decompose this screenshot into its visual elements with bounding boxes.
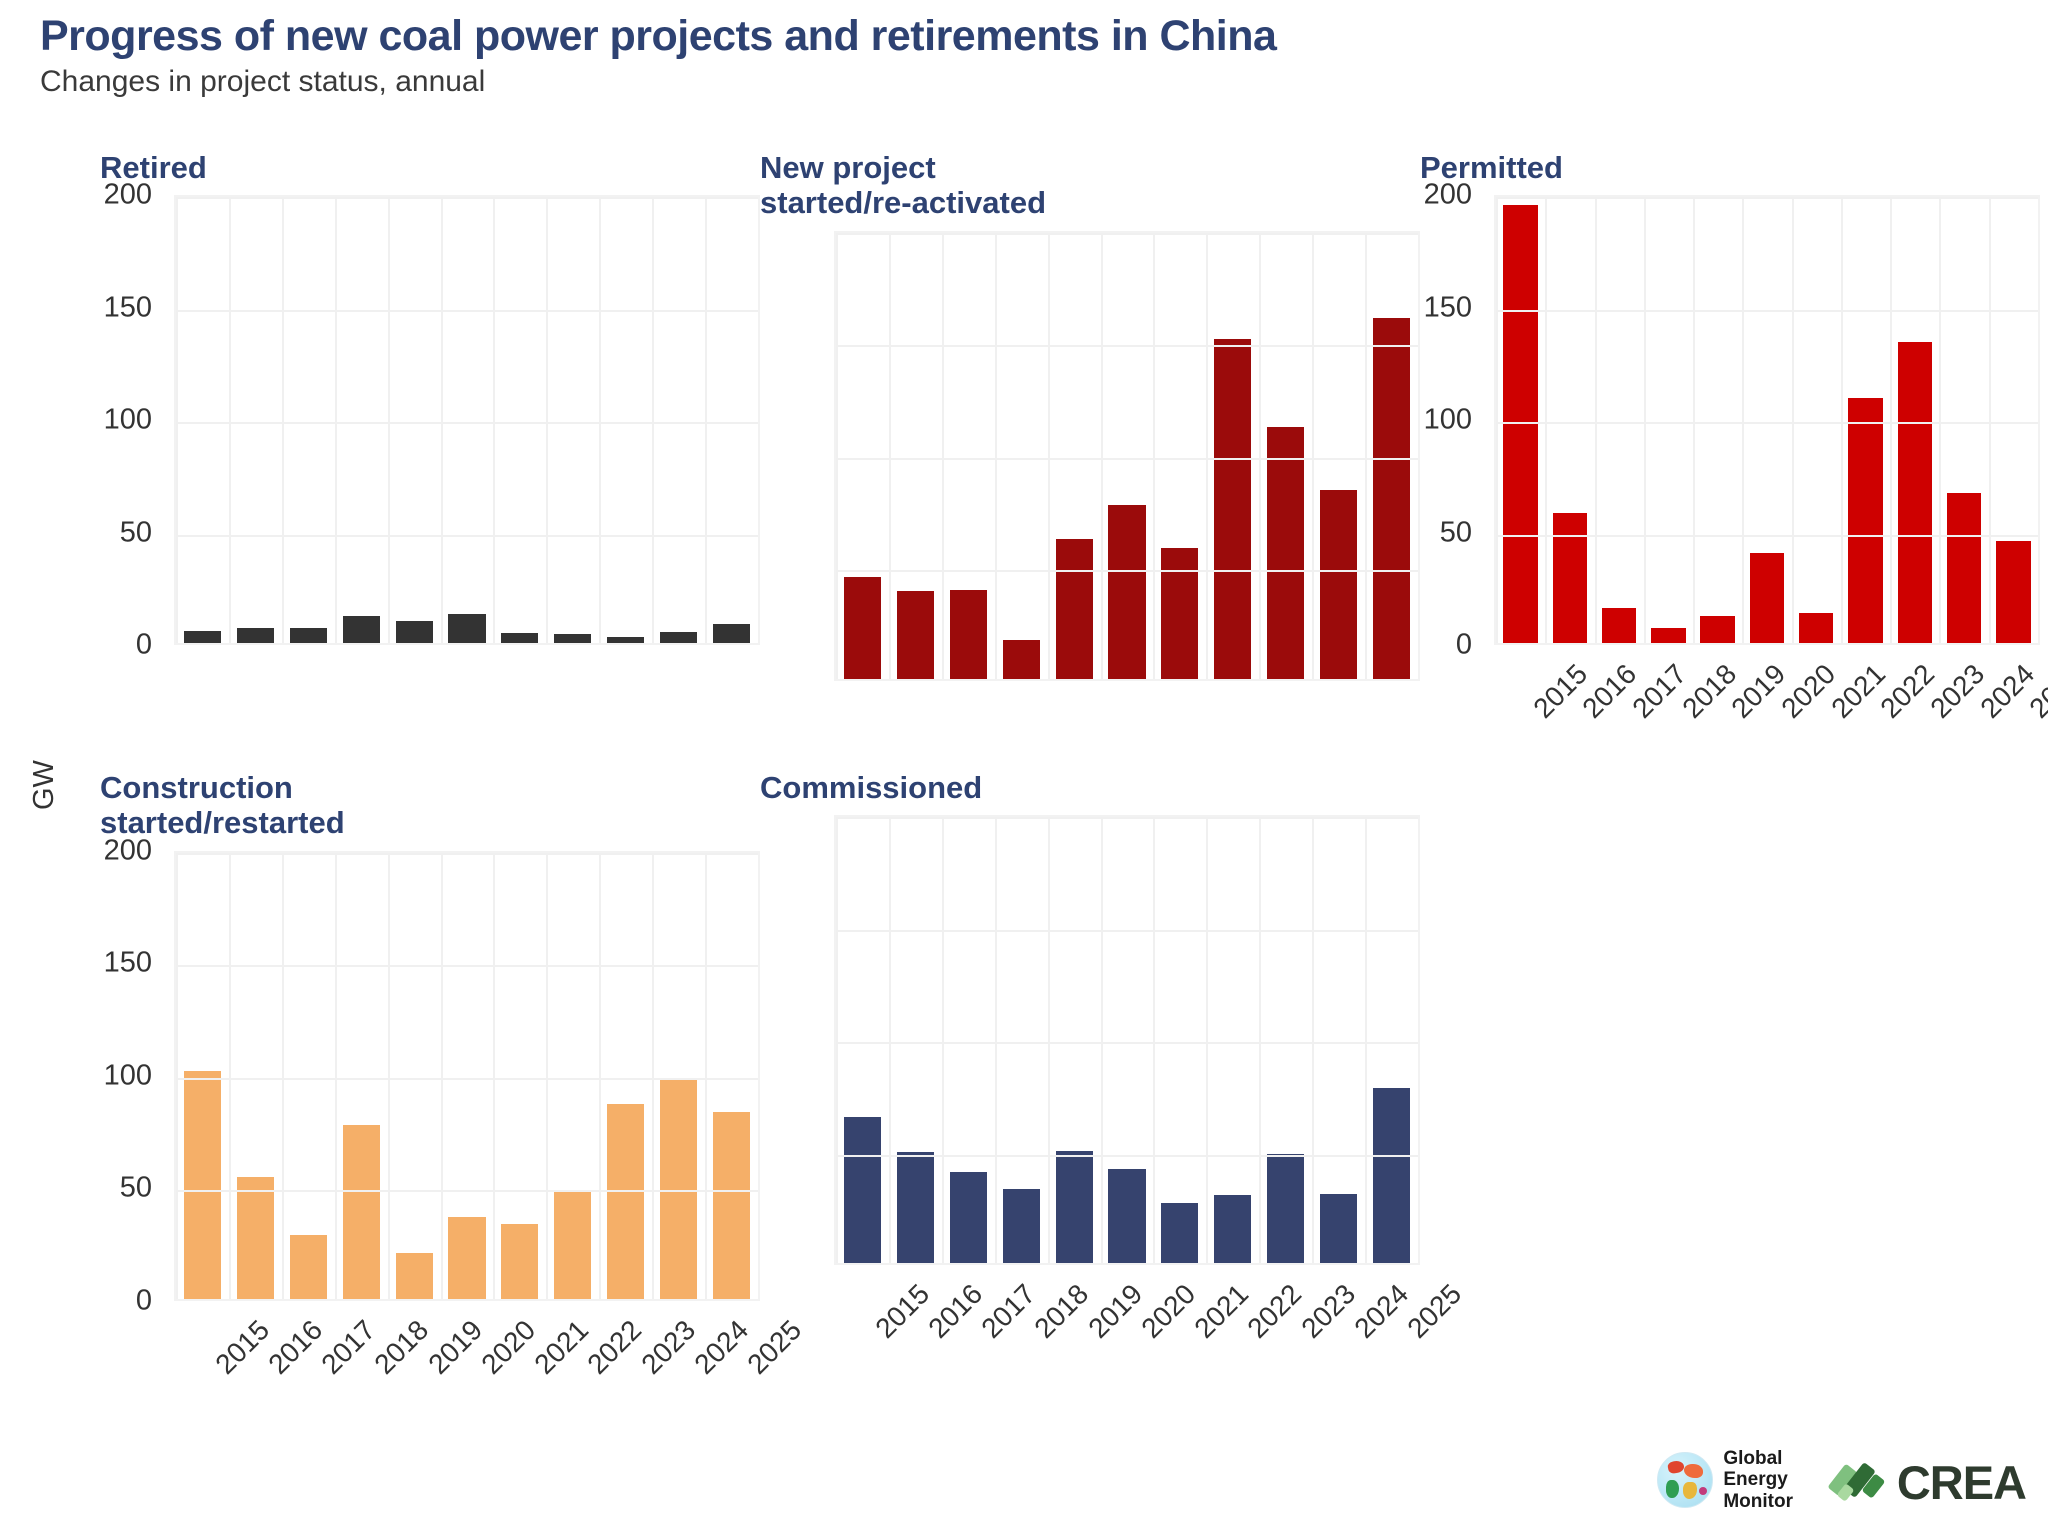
bar[interactable] <box>396 1253 433 1299</box>
gridline-vertical <box>995 817 997 1263</box>
bar[interactable] <box>1056 1151 1093 1264</box>
bar[interactable] <box>1898 342 1932 644</box>
bar-slot <box>493 197 546 643</box>
globe-icon <box>1657 1452 1713 1508</box>
gridline-vertical <box>1365 233 1367 679</box>
gridline-vertical <box>1206 233 1208 679</box>
bar[interactable] <box>448 1217 485 1299</box>
bar[interactable] <box>343 616 380 643</box>
bar-slot <box>599 853 652 1299</box>
gem-wordmark: Global Energy Monitor <box>1723 1448 1793 1512</box>
gridline-vertical <box>1742 197 1744 643</box>
bar-slot <box>1101 233 1154 679</box>
gridline-horizontal <box>1496 535 2038 537</box>
gridline-vertical <box>1595 197 1597 643</box>
bar[interactable] <box>554 1192 591 1299</box>
bar-slot <box>282 853 335 1299</box>
bar[interactable] <box>844 577 881 678</box>
bar-slot <box>1939 197 1988 643</box>
x-tick-slot: 2021 <box>494 1301 547 1421</box>
gridline-vertical <box>388 197 390 643</box>
x-tick-slot: 2020 <box>440 1301 493 1421</box>
x-axis-permitted: 2015201620172018201920202021202220232024… <box>1494 645 2040 765</box>
y-axis-retired: 050100150200 <box>100 195 162 645</box>
gridline-vertical <box>1153 233 1155 679</box>
bar-slot <box>388 197 441 643</box>
gridline-vertical <box>652 853 654 1299</box>
x-tick-slot: 2017 <box>1593 645 1643 765</box>
bar-slot <box>652 197 705 643</box>
bar[interactable] <box>501 1224 538 1298</box>
x-tick-slot: 2024 <box>1941 645 1991 765</box>
x-tick-slot: 2025 <box>1990 645 2040 765</box>
gridline-horizontal <box>176 1078 758 1080</box>
bar[interactable] <box>1320 490 1357 679</box>
x-tick-slot: 2017 <box>941 1265 994 1385</box>
bar[interactable] <box>844 1117 881 1263</box>
gridline-vertical <box>889 233 891 679</box>
crea-wordmark: CREA <box>1897 1455 2026 1510</box>
x-axis-commissioned: 2015201620172018201920202021202220232024… <box>834 1265 1420 1385</box>
bar[interactable] <box>1267 1154 1304 1263</box>
bar-slot <box>1153 233 1206 679</box>
gridline-horizontal <box>836 458 1418 460</box>
facet-title-permitted: Permitted <box>1420 150 2040 185</box>
bar-slot <box>282 197 335 643</box>
gridline-horizontal <box>176 197 758 199</box>
bar-slot <box>1890 197 1939 643</box>
bar[interactable] <box>343 1125 380 1298</box>
gridline-vertical <box>705 853 707 1299</box>
x-tick-slot: 2025 <box>1367 1265 1420 1385</box>
gridline-vertical <box>1048 233 1050 679</box>
facet-title-commissioned: Commissioned <box>760 770 1420 805</box>
bar[interactable] <box>950 1172 987 1263</box>
gridline-vertical <box>546 853 548 1299</box>
bar-slot <box>441 197 494 643</box>
bar-slot <box>599 197 652 643</box>
plot-panel-retired <box>174 195 760 645</box>
gridline-vertical <box>995 233 997 679</box>
bar[interactable] <box>1651 628 1685 644</box>
gridline-horizontal <box>1496 422 2038 424</box>
bar[interactable] <box>713 624 750 643</box>
gridline-vertical <box>652 197 654 643</box>
bar[interactable] <box>713 1112 750 1299</box>
x-tick-slot: 2018 <box>334 1301 387 1421</box>
bar[interactable] <box>660 1079 697 1298</box>
gridline-vertical <box>1101 817 1103 1263</box>
bar[interactable] <box>660 632 697 643</box>
y-tick-label: 200 <box>104 179 152 212</box>
footer: Global Energy Monitor CREA <box>0 1434 2048 1518</box>
bar-slot <box>889 817 942 1263</box>
bar[interactable] <box>237 1177 274 1299</box>
bar-slot <box>441 853 494 1299</box>
gridline-vertical <box>1418 817 1420 1263</box>
y-tick-label: 50 <box>120 516 152 549</box>
gridline-vertical <box>942 817 944 1263</box>
y-tick-label: 100 <box>104 404 152 437</box>
bar[interactable] <box>290 1235 327 1299</box>
gridline-vertical <box>335 853 337 1299</box>
x-tick-label: 2025 <box>2024 658 2048 725</box>
facet-title-retired: Retired <box>100 150 760 185</box>
bar-slot <box>1545 197 1594 643</box>
x-tick-slot: 2016 <box>887 1265 940 1385</box>
facet-title-new-project: New project started/re-activated <box>760 150 1420 221</box>
gridline-horizontal <box>176 535 758 537</box>
gem-line-1: Global <box>1723 1448 1793 1469</box>
x-tick-slot: 2022 <box>1841 645 1891 765</box>
bar-slot <box>1048 817 1101 1263</box>
bar-slot <box>836 817 889 1263</box>
x-tick-slot: 2017 <box>281 1301 334 1421</box>
bar[interactable] <box>1947 493 1981 644</box>
bar-slot <box>229 853 282 1299</box>
facet-new-project: New project started/re-activated <box>760 150 1420 681</box>
bar[interactable] <box>950 590 987 679</box>
bar-series-permitted <box>1496 197 2038 643</box>
gridline-vertical <box>836 817 838 1263</box>
bar[interactable] <box>1108 505 1145 678</box>
gridline-vertical <box>1206 817 1208 1263</box>
x-tick-slot: 2023 <box>1891 645 1941 765</box>
bar[interactable] <box>607 1104 644 1299</box>
x-tick-slot: 2016 <box>1544 645 1594 765</box>
x-tick-slot: 2023 <box>1260 1265 1313 1385</box>
y-tick-label: 50 <box>1440 516 1472 549</box>
gridline-horizontal <box>176 422 758 424</box>
gridline-vertical <box>1693 197 1695 643</box>
bar-slot <box>1644 197 1693 643</box>
bar-slot <box>546 853 599 1299</box>
bar[interactable] <box>897 591 934 679</box>
x-tick-slot: 2024 <box>653 1301 706 1421</box>
gridline-vertical <box>282 197 284 643</box>
x-tick-label: 2025 <box>742 1314 809 1381</box>
facet-grid: Retired 050100150200 New project started… <box>0 150 2048 1470</box>
x-tick-slot: 2023 <box>600 1301 653 1421</box>
y-tick-label: 0 <box>136 629 152 662</box>
gridline-vertical <box>2038 197 2040 643</box>
bar-slot <box>546 197 599 643</box>
crea-mark-icon <box>1835 1461 1889 1505</box>
gridline-vertical <box>1101 233 1103 679</box>
bar[interactable] <box>1003 640 1040 678</box>
bar-slot <box>229 197 282 643</box>
bar-slot <box>1153 817 1206 1263</box>
bar-slot <box>1693 197 1742 643</box>
gridline-vertical <box>836 233 838 679</box>
bar[interactable] <box>1320 1194 1357 1264</box>
gridline-horizontal <box>836 930 1418 932</box>
bar-slot <box>942 817 995 1263</box>
x-tick-slot: 2021 <box>1792 645 1842 765</box>
bar[interactable] <box>237 628 274 644</box>
facet-commissioned: Commissioned 201520162017201820192020202… <box>760 770 1420 1265</box>
gridline-vertical <box>1841 197 1843 643</box>
bar[interactable] <box>501 633 538 643</box>
bar-slot <box>176 853 229 1299</box>
y-axis-commissioned <box>760 815 822 1265</box>
bar-slot <box>335 853 388 1299</box>
gridline-horizontal <box>176 1190 758 1192</box>
bar[interactable] <box>290 628 327 644</box>
plot-panel-permitted <box>1494 195 2040 645</box>
bar-slot <box>995 233 1048 679</box>
page-title: Progress of new coal power projects and … <box>40 14 1940 59</box>
gridline-vertical <box>889 817 891 1263</box>
bar[interactable] <box>1161 548 1198 679</box>
bar[interactable] <box>1056 539 1093 679</box>
x-tick-slot: 2019 <box>387 1301 440 1421</box>
facet-permitted: Permitted 050100150200 20152016201720182… <box>1420 150 2040 645</box>
gridline-vertical <box>1048 817 1050 1263</box>
bar[interactable] <box>1003 1189 1040 1263</box>
bar-series-construction <box>176 853 758 1299</box>
bar-slot <box>995 817 1048 1263</box>
y-tick-label: 100 <box>104 1059 152 1092</box>
gem-line-2: Energy <box>1723 1469 1793 1490</box>
bar-series-commissioned <box>836 817 1418 1263</box>
y-tick-label: 200 <box>104 834 152 867</box>
y-tick-label: 150 <box>104 947 152 980</box>
gridline-vertical <box>1259 817 1261 1263</box>
gridline-vertical <box>1153 817 1155 1263</box>
gridline-vertical <box>546 197 548 643</box>
bar-slot <box>652 853 705 1299</box>
gridline-vertical <box>493 853 495 1299</box>
x-tick-slot: 2015 <box>174 1301 227 1421</box>
x-tick-slot: 2020 <box>1100 1265 1153 1385</box>
y-tick-label: 200 <box>1424 179 1472 212</box>
bar-slot <box>1989 197 2038 643</box>
gridline-vertical <box>335 197 337 643</box>
bar-slot <box>1792 197 1841 643</box>
bar-slot <box>1259 233 1312 679</box>
bar[interactable] <box>1214 1195 1251 1264</box>
facet-construction: Construction started/restarted 050100150… <box>100 770 760 1301</box>
bar-slot <box>176 197 229 643</box>
y-tick-label: 0 <box>136 1284 152 1317</box>
gridline-vertical <box>1259 233 1261 679</box>
bar-slot <box>1742 197 1791 643</box>
gridline-vertical <box>705 197 707 643</box>
x-tick-slot: 2018 <box>1643 645 1693 765</box>
bar[interactable] <box>1750 553 1784 643</box>
x-axis-construction: 2015201620172018201920202021202220232024… <box>174 1301 760 1421</box>
bar-slot <box>836 233 889 679</box>
gridline-vertical <box>1989 197 1991 643</box>
bar[interactable] <box>1108 1169 1145 1264</box>
y-tick-label: 150 <box>1424 291 1472 324</box>
bar-slot <box>1365 817 1418 1263</box>
plot-panel-new-project <box>834 231 1420 681</box>
x-tick-slot: 2025 <box>707 1301 760 1421</box>
gridline-vertical <box>1545 197 1547 643</box>
gridline-horizontal <box>176 310 758 312</box>
gridline-horizontal <box>176 965 758 967</box>
plot-panel-commissioned <box>834 815 1420 1265</box>
bar[interactable] <box>1700 616 1734 643</box>
x-tick-slot: 2022 <box>547 1301 600 1421</box>
bar-slot <box>1206 817 1259 1263</box>
bar-slot <box>889 233 942 679</box>
gridline-vertical <box>229 197 231 643</box>
bar-slot <box>1496 197 1545 643</box>
bar-slot <box>1841 197 1890 643</box>
bar-slot <box>705 197 758 643</box>
gridline-vertical <box>1496 197 1498 643</box>
bar-slot <box>493 853 546 1299</box>
x-tick-slot: 2021 <box>1154 1265 1207 1385</box>
gridline-vertical <box>388 853 390 1299</box>
bar-slot <box>1312 817 1365 1263</box>
bar-slot <box>388 853 441 1299</box>
bar[interactable] <box>448 614 485 643</box>
gridline-horizontal <box>176 853 758 855</box>
gridline-horizontal <box>836 345 1418 347</box>
x-tick-slot: 2015 <box>1494 645 1544 765</box>
y-axis-new-project <box>760 231 822 681</box>
x-tick-slot: 2016 <box>227 1301 280 1421</box>
gridline-horizontal <box>836 817 1418 819</box>
gridline-vertical <box>282 853 284 1299</box>
bar[interactable] <box>607 637 644 644</box>
bar-slot <box>1365 233 1418 679</box>
gridline-vertical <box>1792 197 1794 643</box>
gridline-vertical <box>1890 197 1892 643</box>
x-tick-slot: 2020 <box>1742 645 1792 765</box>
bar[interactable] <box>1996 541 2030 643</box>
bar[interactable] <box>897 1152 934 1263</box>
global-energy-monitor-logo: Global Energy Monitor <box>1657 1448 1793 1512</box>
x-tick-label: 2025 <box>1402 1278 1469 1345</box>
x-tick-slot: 2015 <box>834 1265 887 1385</box>
bar[interactable] <box>554 634 591 643</box>
gridline-vertical <box>176 197 178 643</box>
gridline-vertical <box>1365 817 1367 1263</box>
gridline-vertical <box>176 853 178 1299</box>
bar[interactable] <box>1553 513 1587 644</box>
bar[interactable] <box>1848 398 1882 643</box>
bar[interactable] <box>184 1071 221 1298</box>
y-axis-permitted: 050100150200 <box>1420 195 1482 645</box>
x-tick-slot: 2019 <box>1047 1265 1100 1385</box>
x-tick-slot: 2018 <box>994 1265 1047 1385</box>
y-tick-label: 100 <box>1424 404 1472 437</box>
bar[interactable] <box>184 631 221 643</box>
bar-series-retired <box>176 197 758 643</box>
gridline-vertical <box>229 853 231 1299</box>
bar-series-new-project <box>836 233 1418 679</box>
gridline-horizontal <box>836 233 1418 235</box>
gridline-horizontal <box>1496 310 2038 312</box>
facet-title-construction: Construction started/restarted <box>100 770 760 841</box>
bar-slot <box>1101 817 1154 1263</box>
bar-slot <box>1595 197 1644 643</box>
chart-header: Progress of new coal power projects and … <box>40 14 1940 98</box>
gridline-vertical <box>1644 197 1646 643</box>
bar[interactable] <box>1799 613 1833 643</box>
bar[interactable] <box>1373 1088 1410 1264</box>
bar[interactable] <box>1214 339 1251 679</box>
plot-panel-construction <box>174 851 760 1301</box>
gridline-vertical <box>1939 197 1941 643</box>
bar-slot <box>1206 233 1259 679</box>
gridline-horizontal <box>836 1155 1418 1157</box>
gridline-horizontal <box>1496 197 2038 199</box>
y-tick-label: 0 <box>1456 629 1472 662</box>
gridline-vertical <box>599 197 601 643</box>
gridline-vertical <box>441 197 443 643</box>
y-axis-construction: 050100150200 <box>100 851 162 1301</box>
bar[interactable] <box>396 621 433 644</box>
gridline-vertical <box>1312 233 1314 679</box>
gridline-horizontal <box>836 570 1418 572</box>
gridline-horizontal <box>836 1042 1418 1044</box>
bar-slot <box>1048 233 1101 679</box>
bar[interactable] <box>1602 608 1636 643</box>
bar-slot <box>1312 233 1365 679</box>
bar-slot <box>705 853 758 1299</box>
y-tick-label: 150 <box>104 291 152 324</box>
gem-line-3: Monitor <box>1723 1491 1793 1512</box>
x-tick-slot: 2019 <box>1693 645 1743 765</box>
bar-slot <box>1259 817 1312 1263</box>
bar-slot <box>335 197 388 643</box>
bar-slot <box>942 233 995 679</box>
bar[interactable] <box>1267 427 1304 679</box>
bar[interactable] <box>1373 318 1410 679</box>
page-subtitle: Changes in project status, annual <box>40 65 1940 98</box>
crea-logo: CREA <box>1835 1455 2026 1510</box>
y-tick-label: 50 <box>120 1172 152 1205</box>
gridline-vertical <box>493 197 495 643</box>
gridline-vertical <box>1312 817 1314 1263</box>
gridline-vertical <box>942 233 944 679</box>
bar[interactable] <box>1161 1203 1198 1264</box>
x-tick-slot: 2024 <box>1313 1265 1366 1385</box>
gridline-vertical <box>441 853 443 1299</box>
x-tick-slot: 2022 <box>1207 1265 1260 1385</box>
facet-retired: Retired 050100150200 <box>100 150 760 645</box>
gridline-vertical <box>599 853 601 1299</box>
